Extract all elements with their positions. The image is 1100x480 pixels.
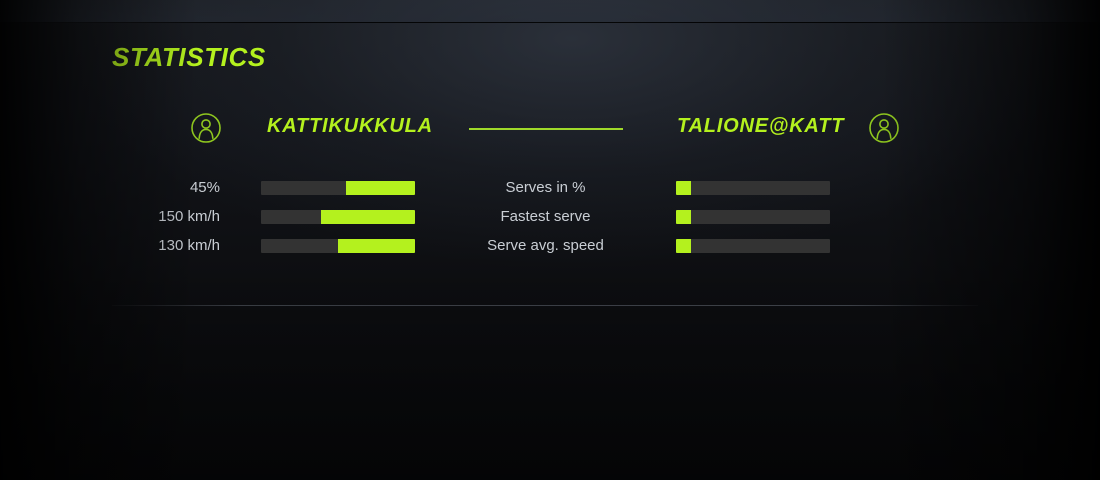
stat-bar-left bbox=[261, 210, 415, 224]
stat-bar-right bbox=[676, 239, 830, 253]
stat-bar-left-fill bbox=[338, 239, 415, 253]
players-header-row: KATTIKUKKULA TALIONE@KATT bbox=[112, 112, 978, 148]
stat-bar-left-fill bbox=[346, 181, 415, 195]
stat-bar-left bbox=[261, 239, 415, 253]
stat-bar-right-fill bbox=[676, 210, 691, 224]
stats-list: 45% Serves in % 150 km/h Fastest serve bbox=[112, 178, 978, 265]
user-avatar-icon bbox=[868, 112, 900, 144]
section-divider bbox=[112, 305, 978, 306]
stat-row: 150 km/h Fastest serve bbox=[112, 207, 978, 236]
stat-bar-right-fill bbox=[676, 181, 691, 195]
stat-bar-right-fill bbox=[676, 239, 691, 253]
stat-bar-left-fill bbox=[321, 210, 415, 224]
page-title: STATISTICS bbox=[112, 42, 266, 73]
stat-bar-right bbox=[676, 210, 830, 224]
stat-row: 45% Serves in % bbox=[112, 178, 978, 207]
stat-label: Serves in % bbox=[415, 178, 676, 198]
stat-label: Fastest serve bbox=[415, 207, 676, 227]
stat-bar-left bbox=[261, 181, 415, 195]
user-avatar-icon bbox=[190, 112, 222, 144]
stat-value-left: 150 km/h bbox=[112, 207, 220, 227]
player-name-right: TALIONE@KATT bbox=[677, 115, 844, 138]
statistics-screen: STATISTICS KATTIKUKKULA TALIONE@KATT bbox=[0, 0, 1100, 480]
statistics-panel: STATISTICS KATTIKUKKULA TALIONE@KATT bbox=[0, 0, 1100, 480]
stat-value-left: 130 km/h bbox=[112, 236, 220, 256]
header-divider bbox=[469, 128, 623, 130]
stat-row: 130 km/h Serve avg. speed bbox=[112, 236, 978, 265]
player-name-left: KATTIKUKKULA bbox=[267, 115, 433, 138]
stat-value-left: 45% bbox=[112, 178, 220, 198]
stat-bar-right bbox=[676, 181, 830, 195]
stat-label: Serve avg. speed bbox=[415, 236, 676, 256]
